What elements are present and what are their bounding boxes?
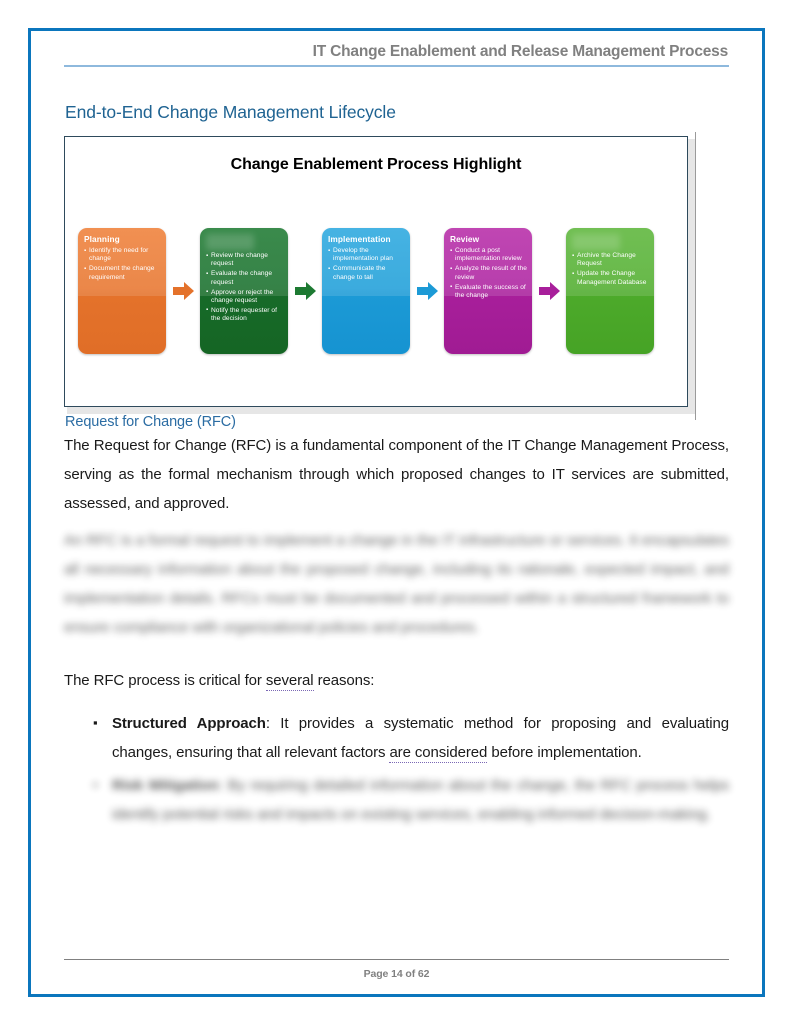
card-item: Review the change request bbox=[206, 252, 283, 269]
card-item: Notify the requester of the decision bbox=[206, 307, 283, 324]
card-title-approval-redacted: Approval and Assessment bbox=[206, 234, 254, 250]
critical-lead-suffix: reasons: bbox=[314, 672, 375, 689]
arrow-approval-to-implementation bbox=[288, 228, 322, 354]
card-item: Conduct a post implementation review bbox=[450, 247, 527, 264]
lifecycle-heading: End-to-End Change Management Lifecycle bbox=[65, 102, 729, 123]
card-list-implementation: Develop the implementation plan Communic… bbox=[328, 247, 405, 282]
grammar-flag-several[interactable]: several bbox=[266, 672, 314, 691]
card-title-implementation: Implementation bbox=[328, 234, 405, 245]
diagram-selection-edge[interactable] bbox=[695, 132, 696, 420]
process-card-closure[interactable]: Closure Archive the Change Request Updat… bbox=[566, 228, 654, 354]
card-item: Archive the Change Request bbox=[572, 252, 649, 269]
redacted-paragraph: An RFC is a formal request to implement … bbox=[64, 526, 729, 642]
arrow-review-to-closure bbox=[532, 228, 566, 354]
card-item: Identify the need for change bbox=[84, 247, 161, 264]
right-arrow-icon bbox=[416, 280, 439, 302]
document-page: IT Change Enablement and Release Managem… bbox=[28, 28, 765, 997]
header-title: IT Change Enablement and Release Managem… bbox=[64, 43, 729, 65]
header-rule bbox=[64, 65, 729, 67]
card-list-approval: Review the change request Evaluate the c… bbox=[206, 252, 283, 324]
document-footer: Page 14 of 62 bbox=[64, 959, 729, 980]
card-title-planning: Planning bbox=[84, 234, 161, 245]
page-number: Page 14 of 62 bbox=[64, 968, 729, 980]
list-item: Structured Approach: It provides a syste… bbox=[64, 709, 729, 767]
grammar-flag-are-considered[interactable]: are considered bbox=[389, 744, 487, 763]
bullet-separator: : bbox=[266, 715, 280, 732]
card-title-review: Review bbox=[450, 234, 527, 245]
document-header: IT Change Enablement and Release Managem… bbox=[64, 31, 729, 67]
bullet-separator: : bbox=[218, 777, 227, 794]
bullet-text-after: before implementation. bbox=[487, 744, 641, 761]
card-list-review: Conduct a post implementation review Ana… bbox=[450, 247, 527, 300]
rfc-intro-paragraph: The Request for Change (RFC) is a fundam… bbox=[64, 431, 729, 518]
card-item: Evaluate the success of the change bbox=[450, 284, 527, 301]
process-diagram[interactable]: Change Enablement Process Highlight Plan… bbox=[64, 136, 695, 414]
arrow-implementation-to-review bbox=[410, 228, 444, 354]
card-list-closure: Archive the Change Request Update the Ch… bbox=[572, 252, 649, 287]
critical-lead-prefix: The RFC process is critical for bbox=[64, 672, 266, 689]
card-title-closure-redacted: Closure bbox=[572, 234, 620, 250]
card-item: Analyze the result of the review bbox=[450, 265, 527, 282]
card-list-planning: Identify the need for change Document th… bbox=[84, 247, 161, 282]
process-card-review[interactable]: Review Conduct a post implementation rev… bbox=[444, 228, 532, 354]
rfc-critical-lead: The RFC process is critical for several … bbox=[64, 666, 729, 695]
card-item: Approve or reject the change request bbox=[206, 289, 283, 306]
card-item: Communicate the change to tall bbox=[328, 265, 405, 282]
process-card-implementation[interactable]: Implementation Develop the implementatio… bbox=[322, 228, 410, 354]
arrow-planning-to-approval bbox=[166, 228, 200, 354]
rfc-reason-list: Structured Approach: It provides a syste… bbox=[64, 709, 729, 829]
bullet-term: Risk Mitigation bbox=[112, 777, 218, 794]
card-item: Update the Change Management Database bbox=[572, 270, 649, 287]
right-arrow-icon bbox=[538, 280, 561, 302]
redacted-paragraph-text: An RFC is a formal request to implement … bbox=[64, 532, 729, 636]
card-item: Develop the implementation plan bbox=[328, 247, 405, 264]
card-item: Document the change requirement bbox=[84, 265, 161, 282]
card-item: Evaluate the change request bbox=[206, 270, 283, 287]
right-arrow-icon bbox=[294, 280, 317, 302]
bullet-term: Structured Approach bbox=[112, 715, 266, 732]
process-card-approval[interactable]: Approval and Assessment Review the chang… bbox=[200, 228, 288, 354]
footer-rule bbox=[64, 959, 729, 960]
process-flow-row: Planning Identify the need for change Do… bbox=[64, 228, 688, 358]
process-card-planning[interactable]: Planning Identify the need for change Do… bbox=[78, 228, 166, 354]
diagram-title: Change Enablement Process Highlight bbox=[65, 156, 687, 174]
list-item: Risk Mitigation: By requiring detailed i… bbox=[64, 771, 729, 829]
rfc-heading: Request for Change (RFC) bbox=[65, 414, 729, 430]
right-arrow-icon bbox=[172, 280, 195, 302]
